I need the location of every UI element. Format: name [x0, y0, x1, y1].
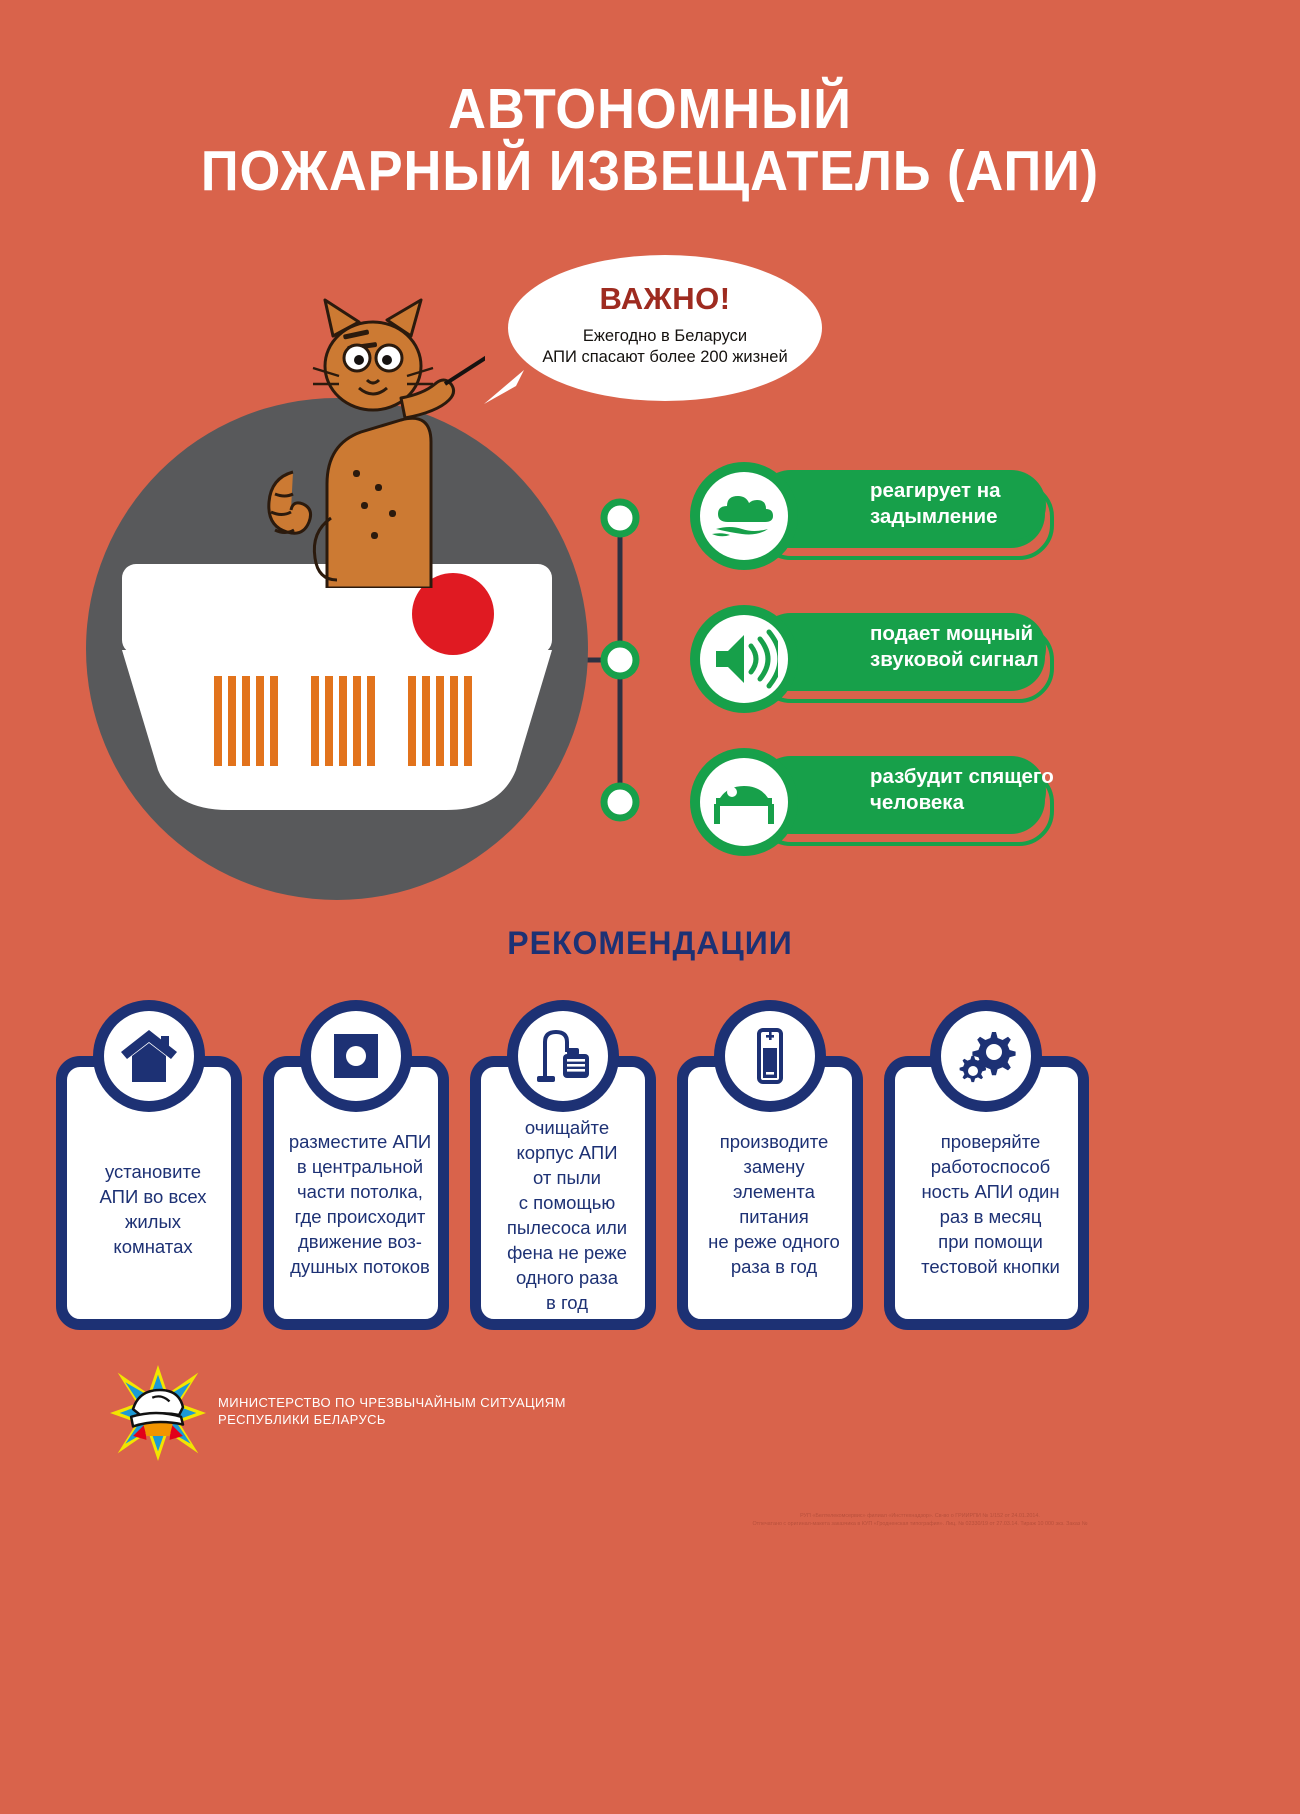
card-line: движение воз- — [278, 1229, 442, 1254]
card-line: питания — [692, 1204, 856, 1229]
feature-text-line-2: звуковой сигнал — [870, 647, 1080, 673]
card-text: установите АПИ во всех жилых комнатах — [71, 1159, 235, 1259]
fineprint-line-2: Отпечатано с оригинал-макета заказчика в… — [590, 1520, 1250, 1528]
feature-text-line-1: подает мощный — [870, 621, 1080, 647]
card-line: тестовой кнопки — [899, 1254, 1082, 1279]
speech-bubble: ВАЖНО! Ежегодно в Беларуси АПИ спасают б… — [508, 255, 822, 401]
mchs-belarus-emblem — [110, 1365, 206, 1461]
card-line: пылесоса или — [485, 1215, 649, 1240]
feature-text: реагирует на задымление — [870, 478, 1080, 530]
card-line: очищайте — [485, 1115, 649, 1140]
org-line-2: РЕСПУБЛИКИ БЕЛАРУСЬ — [218, 1411, 566, 1428]
card-line: одного раза — [485, 1265, 649, 1290]
feature-text-line-1: разбудит спящего — [870, 764, 1080, 790]
connector-node-3 — [604, 786, 636, 818]
poster-root: АВТОНОМНЫЙ ПОЖАРНЫЙ ИЗВЕЩАТЕЛЬ (АПИ) ВАЖ… — [0, 0, 1300, 1814]
card-line: корпус АПИ — [485, 1140, 649, 1165]
card-line: работоспособ — [899, 1154, 1082, 1179]
fineprint-line-1: РУП «Белтелекомсервис» филиал «Инсттехна… — [590, 1512, 1250, 1520]
loud-speaker-icon — [710, 625, 778, 693]
feature-pill-wake[interactable]: разбудит спящего человека — [690, 748, 1050, 834]
bubble-body-line-2: АПИ спасают более 200 жизней — [508, 347, 822, 368]
card-line: производите — [692, 1129, 856, 1154]
feature-text: разбудит спящего человека — [870, 764, 1080, 816]
feature-text-line-1: реагирует на — [870, 478, 1080, 504]
card-line: душных потоков — [278, 1254, 442, 1279]
recommendations-heading: РЕКОМЕНДАЦИИ — [0, 925, 1300, 962]
card-line: замену — [692, 1154, 856, 1179]
vacuum-cleaner-icon — [533, 1026, 593, 1086]
card-line: от пыли — [485, 1165, 649, 1190]
organization-caption: МИНИСТЕРСТВО ПО ЧРЕЗВЫЧАЙНЫМ СИТУАЦИЯМ Р… — [218, 1394, 566, 1428]
card-line: в год — [485, 1290, 649, 1315]
connector-node-2 — [604, 644, 636, 676]
feature-badge — [690, 748, 798, 856]
smoke-cloud-icon — [710, 482, 778, 550]
card-line: раза в год — [692, 1254, 856, 1279]
bubble-body-line-1: Ежегодно в Беларуси — [508, 326, 822, 347]
card-icon-badge — [714, 1000, 826, 1112]
sleeping-person-bed-icon — [710, 768, 778, 836]
connector-node-1 — [604, 502, 636, 534]
card-line: при помощи — [899, 1229, 1082, 1254]
card-line: где происходит — [278, 1204, 442, 1229]
card-icon-badge — [93, 1000, 205, 1112]
title-line-1: АВТОНОМНЫЙ — [448, 77, 852, 141]
card-text: очищайте корпус АПИ от пыли с помощью пы… — [485, 1115, 649, 1315]
feature-pill-smoke[interactable]: реагирует на задымление — [690, 462, 1050, 548]
card-line: фена не реже — [485, 1240, 649, 1265]
recommendation-cards: установите АПИ во всех жилых комнатах ра… — [56, 1000, 1246, 1330]
card-text: разместите АПИ в центральной части потол… — [278, 1129, 442, 1279]
card-line: с помощью — [485, 1190, 649, 1215]
card-line: не реже одного — [692, 1229, 856, 1254]
feature-text: подает мощный звуковой сигнал — [870, 621, 1080, 673]
feature-pill-sound[interactable]: подает мощный звуковой сигнал — [690, 605, 1050, 691]
card-line: ность АПИ один — [899, 1179, 1082, 1204]
card-line: части потолка, — [278, 1179, 442, 1204]
feature-text-line-2: задымление — [870, 504, 1080, 530]
fineprint: РУП «Белтелекомсервис» филиал «Инсттехна… — [590, 1512, 1250, 1528]
house-icon — [119, 1026, 179, 1086]
card-text: производите замену элемента питания не р… — [692, 1129, 856, 1279]
ceiling-detector-icon — [326, 1026, 386, 1086]
org-line-1: МИНИСТЕРСТВО ПО ЧРЕЗВЫЧАЙНЫМ СИТУАЦИЯМ — [218, 1394, 566, 1411]
gears-icon — [956, 1026, 1016, 1086]
card-line: раз в месяц — [899, 1204, 1082, 1229]
card-line: установите — [71, 1159, 235, 1184]
battery-icon — [740, 1026, 800, 1086]
page-title: АВТОНОМНЫЙ ПОЖАРНЫЙ ИЗВЕЩАТЕЛЬ (АПИ) — [52, 78, 1248, 202]
card-icon-badge — [300, 1000, 412, 1112]
card-line: комнатах — [71, 1234, 235, 1259]
card-line: в центральной — [278, 1154, 442, 1179]
bubble-body: Ежегодно в Беларуси АПИ спасают более 20… — [508, 326, 822, 368]
card-line: АПИ во всех — [71, 1184, 235, 1209]
bubble-heading: ВАЖНО! — [508, 281, 822, 317]
card-line: элемента — [692, 1179, 856, 1204]
feature-text-line-2: человека — [870, 790, 1080, 816]
cat-with-pointer — [255, 288, 485, 588]
feature-badge — [690, 605, 798, 713]
title-line-2: ПОЖАРНЫЙ ИЗВЕЩАТЕЛЬ (АПИ) — [52, 140, 1248, 202]
card-icon-badge — [507, 1000, 619, 1112]
feature-badge — [690, 462, 798, 570]
card-line: проверяйте — [899, 1129, 1082, 1154]
card-line: разместите АПИ — [278, 1129, 442, 1154]
card-icon-badge — [930, 1000, 1042, 1112]
speech-bubble-tail — [444, 370, 524, 410]
card-text: проверяйте работоспособ ность АПИ один р… — [899, 1129, 1082, 1279]
card-line: жилых — [71, 1209, 235, 1234]
